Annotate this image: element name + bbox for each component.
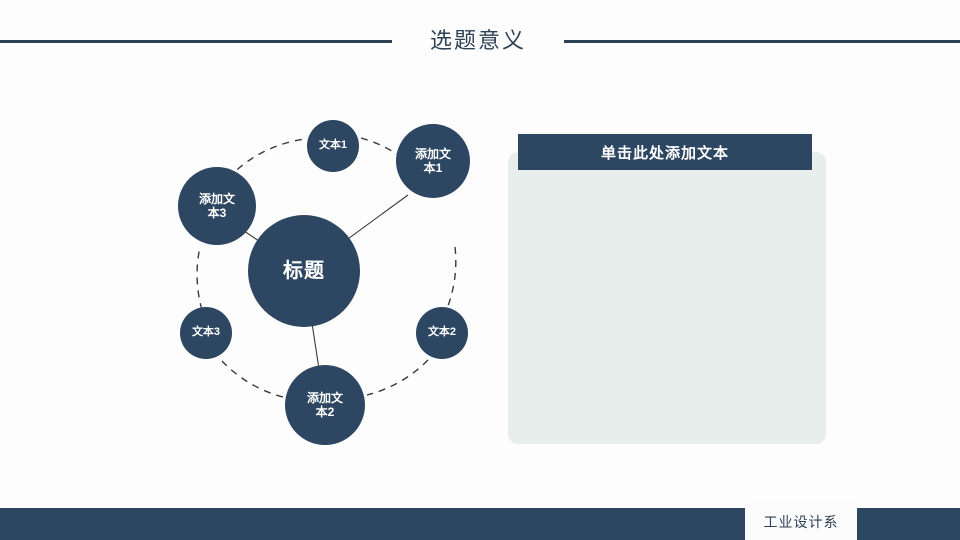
arc-bottom-right xyxy=(367,360,428,395)
diagram-node-text1[interactable]: 文本1 xyxy=(307,120,359,172)
header-rule-right xyxy=(564,40,960,43)
content-panel-header: 单击此处添加文本 xyxy=(518,134,812,170)
diagram-node-add-text1-line1: 添加文 xyxy=(415,147,451,161)
diagram-node-add-text2-line1: 添加文 xyxy=(307,391,343,405)
diagram-node-add-text3[interactable]: 添加文 本3 xyxy=(178,167,256,245)
footer-department-tag: 工业设计系 xyxy=(745,503,857,540)
diagram-node-text3[interactable]: 文本3 xyxy=(180,307,232,359)
diagram-node-add-text3-line1: 添加文 xyxy=(199,192,235,206)
diagram-node-add-text1[interactable]: 添加文 本1 xyxy=(396,124,470,198)
diagram-node-text2-label: 文本2 xyxy=(428,326,456,339)
diagram-node-text2[interactable]: 文本2 xyxy=(416,307,468,359)
arc-right xyxy=(446,247,456,311)
diagram-node-text3-label: 文本3 xyxy=(192,326,220,339)
diagram-node-add-text2-line2: 本2 xyxy=(307,405,343,419)
arc-left xyxy=(197,247,202,310)
arc-bottom-left xyxy=(222,361,283,397)
header-rule-left xyxy=(0,40,392,43)
slide-header: 选题意义 xyxy=(0,20,960,62)
diagram-node-add-text1-line2: 本1 xyxy=(415,161,451,175)
content-panel: 单击此处添加段落文字 单击此处添加段落文字 单击此处添加段落文字 单击此处添加段… xyxy=(508,152,826,444)
diagram-node-add-text2[interactable]: 添加文 本2 xyxy=(285,365,365,445)
diagram-node-center-label: 标题 xyxy=(283,259,325,283)
diagram-node-text1-label: 文本1 xyxy=(319,139,347,152)
diagram-node-add-text3-line2: 本3 xyxy=(199,206,235,220)
diagram-node-center[interactable]: 标题 xyxy=(248,215,360,327)
page-title: 选题意义 xyxy=(392,20,564,62)
circle-network-diagram: 文本1 添加文 本1 文本2 添加文 本2 文本3 添加文 本3 xyxy=(150,95,510,460)
slide-canvas: 选题意义 文本1 添加文 本1 文本2 xyxy=(0,0,960,540)
